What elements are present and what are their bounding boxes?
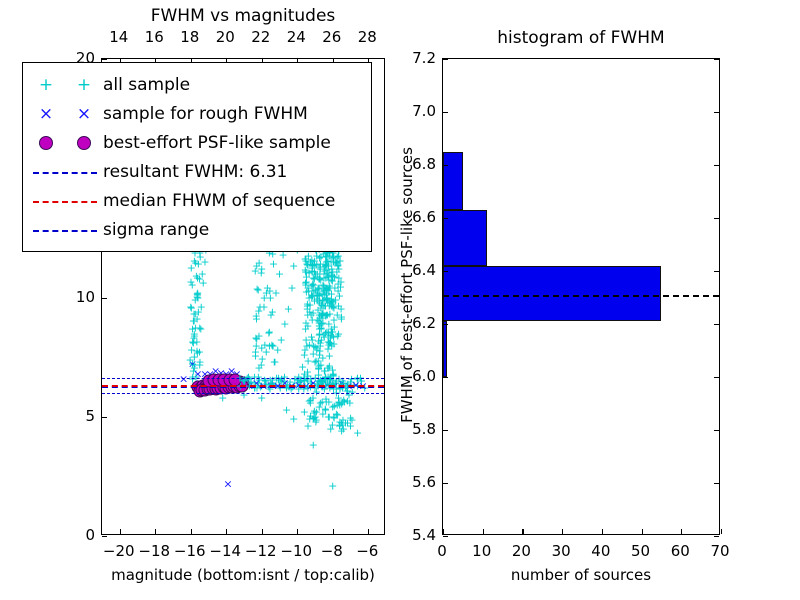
scatter-point: + — [330, 413, 339, 424]
scatter-point: + — [315, 274, 324, 285]
scatter-point: + — [289, 261, 298, 272]
scatter-point: + — [336, 276, 345, 287]
scatter-point: + — [189, 308, 198, 319]
scatter-point: + — [265, 341, 274, 352]
scatter-point: + — [327, 323, 336, 334]
legend-entry-3[interactable]: resultant FWHM: 6.31 — [29, 157, 363, 186]
scatter-point: + — [333, 252, 342, 263]
scatter-point: + — [327, 340, 336, 351]
scatter-point: + — [262, 288, 271, 299]
scatter-point: + — [316, 303, 325, 314]
scatter-point: + — [328, 297, 337, 308]
scatter-point: + — [328, 326, 337, 337]
scatter-point: + — [329, 256, 338, 267]
scatter-point: + — [186, 354, 195, 365]
scatter-point: × — [223, 478, 232, 489]
scatter-point: + — [318, 307, 327, 318]
scatter-point: + — [189, 316, 198, 327]
scatter-point: + — [311, 269, 320, 280]
scatter-point: + — [312, 342, 321, 353]
scatter-point: + — [313, 289, 322, 300]
axis-tick — [102, 59, 107, 60]
histogram-median-line — [443, 295, 719, 297]
scatter-point: + — [189, 316, 198, 327]
axis-tick — [714, 377, 719, 378]
scatter-point: + — [312, 294, 321, 305]
histogram-bar — [443, 210, 487, 266]
scatter-point: + — [257, 342, 266, 353]
scatter-point: + — [306, 411, 315, 422]
scatter-point: + — [327, 300, 336, 311]
bottom-axis-ticklabel: −6 — [356, 542, 378, 560]
axis-tick — [155, 529, 156, 534]
scatter-point: + — [186, 302, 195, 313]
scatter-point: + — [316, 374, 325, 385]
scatter-point: + — [324, 337, 333, 348]
scatter-point: + — [324, 330, 333, 341]
scatter-point: + — [333, 260, 342, 271]
scatter-point: + — [319, 280, 328, 291]
scatter-point: + — [301, 277, 310, 288]
scatter-point: + — [317, 323, 326, 334]
legend-entry-1[interactable]: ××sample for rough FWHM — [29, 99, 363, 128]
scatter-point: + — [333, 400, 342, 411]
hist-x-ticklabel: 10 — [472, 542, 491, 560]
scatter-point: + — [323, 297, 332, 308]
scatter-point: + — [318, 296, 327, 307]
scatter-point: + — [268, 340, 277, 351]
scatter-point: + — [309, 280, 318, 291]
scatter-point: + — [324, 327, 333, 338]
scatter-point: + — [317, 397, 326, 408]
axis-tick — [714, 536, 719, 537]
scatter-point: + — [347, 374, 356, 385]
scatter-point: + — [302, 340, 311, 351]
circle-icon — [39, 136, 53, 150]
scatter-point: + — [322, 258, 331, 269]
legend-marker — [29, 191, 103, 211]
scatter-point: + — [334, 301, 343, 312]
scatter-point: + — [329, 339, 338, 350]
scatter-point: + — [329, 315, 338, 326]
scatter-point: + — [335, 416, 344, 427]
scatter-point: + — [313, 283, 322, 294]
scatter-point: + — [318, 280, 327, 291]
scatter-point: + — [191, 295, 200, 306]
scatter-point: + — [322, 294, 331, 305]
scatter-point: + — [302, 287, 311, 298]
histogram-axes[interactable] — [442, 58, 720, 535]
scatter-point: + — [277, 335, 286, 346]
scatter-point: + — [321, 283, 330, 294]
scatter-point: + — [321, 300, 330, 311]
scatter-point: × — [188, 359, 197, 370]
scatter-point: + — [197, 301, 206, 312]
scatter-point: + — [327, 294, 336, 305]
scatter-point: + — [301, 266, 310, 277]
hist-plot-xlabel: number of sources — [442, 566, 720, 584]
scatter-point: + — [323, 371, 332, 382]
scatter-point: + — [328, 252, 337, 263]
scatter-point: + — [320, 331, 329, 342]
scatter-point: + — [324, 340, 333, 351]
scatter-point: + — [321, 393, 330, 404]
scatter-point: + — [188, 280, 197, 291]
histogram-bar — [443, 152, 463, 210]
scatter-point: + — [338, 414, 347, 425]
scatter-point: + — [323, 283, 332, 294]
scatter-point: + — [305, 395, 314, 406]
scatter-point: + — [260, 339, 269, 350]
scatter-point: + — [313, 290, 322, 301]
scatter-point: + — [313, 288, 322, 299]
annotation-line-sigma-range-lower — [102, 393, 384, 394]
scatter-point: + — [302, 266, 311, 277]
scatter-point: + — [323, 310, 332, 321]
scatter-point: + — [310, 285, 319, 296]
scatter-point: + — [315, 283, 324, 294]
bottom-axis-ticklabel: −12 — [245, 542, 277, 560]
axis-tick — [443, 324, 448, 325]
scatter-point: + — [314, 335, 323, 346]
scatter-point: + — [314, 261, 323, 272]
plus-icon: + — [77, 75, 91, 95]
scatter-point: + — [325, 308, 334, 319]
scatter-point: + — [328, 480, 337, 491]
scatter-point: + — [289, 414, 298, 425]
scatter-point: + — [266, 292, 275, 303]
bottom-axis-ticklabel: −10 — [280, 542, 312, 560]
scatter-point: + — [313, 268, 322, 279]
scatter-point: + — [300, 406, 309, 417]
scatter-point: + — [189, 337, 198, 348]
left-axis-ticklabel: 0 — [55, 526, 95, 544]
top-axis-ticklabel: 20 — [216, 28, 235, 46]
scatter-point: + — [320, 366, 329, 377]
scatter-point: + — [314, 362, 323, 373]
legend-label: sample for rough FWHM — [103, 104, 308, 124]
scatter-point: + — [341, 417, 350, 428]
circle-icon — [77, 136, 91, 150]
scatter-point: + — [306, 395, 315, 406]
scatter-point: + — [331, 294, 340, 305]
scatter-point: + — [308, 285, 317, 296]
scatter-point: + — [320, 266, 329, 277]
scatter-point: + — [328, 270, 337, 281]
bottom-axis-ticklabel: −16 — [174, 542, 206, 560]
scatter-point: + — [322, 257, 331, 268]
scatter-point: + — [301, 253, 310, 264]
scatter-point: + — [325, 411, 334, 422]
scatter-point: + — [333, 309, 342, 320]
scatter-point: + — [305, 306, 314, 317]
axis-tick — [714, 271, 719, 272]
scatter-point: + — [314, 361, 323, 372]
scatter-point: + — [303, 420, 312, 431]
scatter-point: + — [308, 278, 317, 289]
scatter-point: + — [319, 329, 328, 340]
scatter-point: + — [303, 371, 312, 382]
scatter-point: + — [195, 359, 204, 370]
scatter-point: + — [308, 259, 317, 270]
scatter-point: + — [310, 256, 319, 267]
scatter-point: + — [188, 336, 197, 347]
scatter-point: + — [316, 360, 325, 371]
scatter-point: + — [322, 251, 331, 262]
scatter-point: + — [302, 335, 311, 346]
scatter-point: + — [328, 365, 337, 376]
scatter-point: + — [310, 267, 319, 278]
scatter-point: + — [268, 306, 277, 317]
axis-tick — [443, 218, 448, 219]
scatter-point: + — [325, 361, 334, 372]
axis-tick — [102, 536, 107, 537]
scatter-point: + — [308, 261, 317, 272]
scatter-point: + — [338, 396, 347, 407]
scatter-point: + — [334, 259, 343, 270]
top-axis-ticklabel: 26 — [322, 28, 341, 46]
scatter-point: + — [301, 265, 310, 276]
scatter-point: + — [301, 256, 310, 267]
scatter-point: + — [317, 322, 326, 333]
scatter-point: + — [312, 355, 321, 366]
scatter-point: + — [189, 332, 198, 343]
scatter-point: + — [315, 329, 324, 340]
scatter-point: + — [309, 349, 318, 360]
scatter-point: + — [189, 366, 198, 377]
scatter-point: + — [332, 409, 341, 420]
scatter-point: + — [322, 284, 331, 295]
scatter-point: + — [310, 273, 319, 284]
legend-marker — [29, 133, 103, 153]
axis-tick — [721, 529, 722, 534]
scatter-point: + — [251, 265, 260, 276]
scatter-point: + — [322, 267, 331, 278]
scatter-point: + — [255, 257, 264, 268]
scatter-point: + — [323, 256, 332, 267]
scatter-point: + — [193, 292, 202, 303]
scatter-point: + — [327, 270, 336, 281]
scatter-point: + — [191, 258, 200, 269]
scatter-point: + — [315, 274, 324, 285]
scatter-point: + — [271, 287, 280, 298]
scatter-point: × — [227, 366, 236, 377]
scatter-point: + — [325, 282, 334, 293]
scatter-point: + — [195, 322, 204, 333]
legend-entry-4[interactable]: median FHWM of sequence — [29, 186, 363, 215]
scatter-point: + — [193, 289, 202, 300]
scatter-point: + — [308, 291, 317, 302]
scatter-point: + — [308, 266, 317, 277]
scatter-point: + — [323, 271, 332, 282]
scatter-point: + — [324, 260, 333, 271]
top-axis-ticklabel: 14 — [109, 28, 128, 46]
scatter-point: + — [239, 390, 248, 401]
scatter-point: + — [327, 327, 336, 338]
scatter-point: + — [265, 286, 274, 297]
axis-tick — [714, 112, 719, 113]
scatter-point: + — [321, 251, 330, 262]
scatter-point: + — [334, 374, 343, 385]
scatter-point: + — [316, 341, 325, 352]
scatter-point: + — [192, 291, 201, 302]
scatter-point: + — [252, 310, 261, 321]
scatter-point: + — [347, 414, 356, 425]
scatter-point: + — [312, 259, 321, 270]
scatter-point: + — [323, 344, 332, 355]
scatter-point: + — [333, 331, 342, 342]
scatter-point: + — [266, 310, 275, 321]
scatter-point: + — [310, 406, 319, 417]
histogram-bar — [443, 321, 447, 377]
scatter-point: + — [190, 329, 199, 340]
scatter-point: + — [187, 302, 196, 313]
scatter-point: + — [321, 327, 330, 338]
bottom-axis-ticklabel: −20 — [103, 542, 135, 560]
scatter-point: + — [317, 299, 326, 310]
legend-box[interactable]: ++all sample××sample for rough FWHMbest-… — [22, 62, 372, 252]
top-axis-ticklabel: 28 — [358, 28, 377, 46]
scatter-point: + — [336, 256, 345, 267]
scatter-point: + — [306, 398, 315, 409]
scatter-point: + — [268, 341, 277, 352]
scatter-point: + — [315, 252, 324, 263]
scatter-point: + — [190, 330, 199, 341]
scatter-point: + — [251, 332, 260, 343]
scatter-point: + — [188, 323, 197, 334]
scatter-point: + — [257, 263, 266, 274]
scatter-point: + — [304, 285, 313, 296]
scatter-point: + — [334, 396, 343, 407]
scatter-point: + — [251, 350, 260, 361]
scatter-point: + — [330, 272, 339, 283]
scatter-point: + — [260, 293, 269, 304]
legend-entry-5[interactable]: sigma range — [29, 215, 363, 244]
scatter-point: + — [322, 309, 331, 320]
scatter-point: + — [301, 253, 310, 264]
scatter-point: + — [319, 286, 328, 297]
axis-tick — [443, 536, 448, 537]
scatter-point: + — [335, 421, 344, 432]
scatter-point: + — [326, 333, 335, 344]
scatter-point: + — [329, 251, 338, 262]
scatter-point: + — [282, 404, 291, 415]
left-axis-ticklabel: 5 — [55, 407, 95, 425]
bottom-axis-ticklabel: −14 — [209, 542, 241, 560]
axis-tick — [714, 165, 719, 166]
scatter-point: + — [317, 309, 326, 320]
scatter-point: + — [334, 285, 343, 296]
annotation-line-sigma-range-upper — [102, 378, 384, 379]
axis-tick — [191, 529, 192, 534]
scatter-point: + — [319, 273, 328, 284]
scatter-point: + — [321, 272, 330, 283]
scatter-point: + — [321, 259, 330, 270]
scatter-point: + — [309, 412, 318, 423]
scatter-point: + — [306, 374, 315, 385]
scatter-point: + — [322, 287, 331, 298]
bottom-axis-ticklabel: −8 — [321, 542, 343, 560]
scatter-point: + — [309, 413, 318, 424]
scatter-point: + — [193, 272, 202, 283]
scatter-point: + — [187, 344, 196, 355]
axis-tick — [226, 529, 227, 534]
scatter-point: + — [188, 359, 197, 370]
axis-tick — [714, 430, 719, 431]
scatter-point: + — [255, 374, 264, 385]
scatter-point: + — [312, 386, 321, 397]
scatter-point: + — [312, 406, 321, 417]
scatter-point: + — [196, 323, 205, 334]
scatter-point: + — [193, 348, 202, 359]
scatter-point: + — [330, 400, 339, 411]
scatter-point: + — [305, 340, 314, 351]
scatter-point: + — [318, 288, 327, 299]
scatter-point: + — [254, 362, 263, 373]
scatter-point: + — [334, 250, 343, 261]
scatter-point: + — [324, 284, 333, 295]
scatter-point: + — [337, 426, 346, 437]
axis-tick — [443, 377, 448, 378]
scatter-point: + — [333, 410, 342, 421]
scatter-point: + — [321, 404, 330, 415]
scatter-point: + — [318, 409, 327, 420]
scatter-point: + — [328, 419, 337, 430]
scatter-point: + — [300, 345, 309, 356]
scatter-point: + — [335, 399, 344, 410]
scatter-point: + — [303, 366, 312, 377]
scatter-point: + — [339, 395, 348, 406]
scatter-point: + — [315, 349, 324, 360]
legend-label: resultant FWHM: 6.31 — [103, 162, 287, 182]
scatter-point: + — [189, 360, 198, 371]
scatter-point: + — [193, 314, 202, 325]
scatter-point: + — [302, 259, 311, 270]
scatter-point: + — [327, 297, 336, 308]
legend-marker: ×× — [29, 104, 103, 124]
scatter-point: + — [294, 371, 303, 382]
axis-tick — [120, 529, 121, 534]
scatter-point: + — [337, 399, 346, 410]
hist-x-ticklabel: 20 — [512, 542, 531, 560]
left-plot-xlabel: magnitude (bottom:isnt / top:calib) — [101, 566, 385, 584]
hist-x-ticklabel: 30 — [552, 542, 571, 560]
scatter-point: + — [320, 261, 329, 272]
legend-entry-0[interactable]: ++all sample — [29, 70, 363, 99]
scatter-point: + — [328, 402, 337, 413]
scatter-point: + — [325, 337, 334, 348]
scatter-point: + — [191, 322, 200, 333]
scatter-point: + — [335, 290, 344, 301]
annotation-line-median-fhwm-of-sequence — [102, 385, 384, 387]
axis-tick — [714, 483, 719, 484]
scatter-point: + — [314, 317, 323, 328]
scatter-point: + — [346, 412, 355, 423]
scatter-point: + — [252, 284, 261, 295]
scatter-point: + — [316, 318, 325, 329]
scatter-point: + — [346, 421, 355, 432]
legend-entry-2[interactable]: best-effort PSF-like sample — [29, 128, 363, 157]
scatter-point: + — [186, 276, 195, 287]
dash-dot-line-icon — [33, 230, 97, 232]
scatter-point: + — [309, 341, 318, 352]
scatter-point: + — [307, 290, 316, 301]
scatter-point: + — [306, 256, 315, 267]
scatter-point: + — [252, 333, 261, 344]
scatter-point: + — [321, 283, 330, 294]
scatter-point: + — [315, 321, 324, 332]
histogram-plot-area — [443, 59, 719, 534]
